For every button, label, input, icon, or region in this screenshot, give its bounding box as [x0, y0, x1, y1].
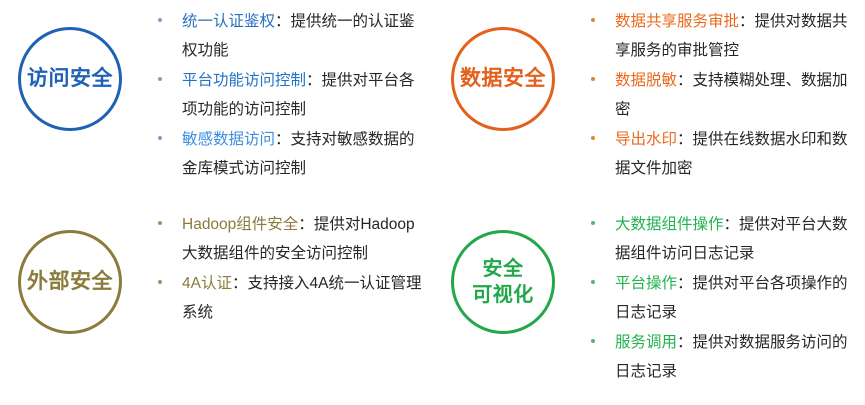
list-item: 统一认证鉴权：提供统一的认证鉴权功能 [150, 7, 426, 65]
list-item-text: 数据脱敏：支持模糊处理、数据加密 [615, 66, 859, 124]
list-item: Hadoop组件安全：提供对Hadoop大数据组件的安全访问控制 [150, 210, 426, 268]
list-item: 导出水印：提供在线数据水印和数据文件加密 [583, 125, 859, 183]
list-item-separator: ： [306, 72, 322, 89]
list-item-separator: ： [677, 72, 693, 89]
bullet-icon [158, 136, 162, 140]
badge-security-visualization: 安全 可视化 [433, 203, 583, 405]
list-item-text: 统一认证鉴权：提供统一的认证鉴权功能 [182, 7, 426, 65]
badge-label-line: 访问安全 [27, 65, 113, 93]
list-item-term: 大数据组件操作 [615, 216, 724, 233]
list-item-term: 平台功能访问控制 [182, 72, 306, 89]
section-data-security: 数据安全 数据共享服务审批：提供对数据共享服务的审批管控 数据脱敏：支持模糊处理… [433, 0, 865, 202]
list-item-text: 平台操作：提供对平台各项操作的日志记录 [615, 269, 859, 327]
list-item-term: 平台操作 [615, 275, 677, 292]
list-item-text: 导出水印：提供在线数据水印和数据文件加密 [615, 125, 859, 183]
list-item-text: 大数据组件操作：提供对平台大数据组件访问日志记录 [615, 210, 859, 268]
list-data-security: 数据共享服务审批：提供对数据共享服务的审批管控 数据脱敏：支持模糊处理、数据加密… [583, 0, 865, 184]
list-item: 平台功能访问控制：提供对平台各项功能的访问控制 [150, 66, 426, 124]
bullet-icon [158, 280, 162, 284]
list-item-separator: ： [677, 334, 693, 351]
badge-label-data-security: 数据安全 [433, 27, 573, 131]
list-item-term: 数据共享服务审批 [615, 13, 739, 30]
section-access-security: 访问安全 统一认证鉴权：提供统一的认证鉴权功能 平台功能访问控制：提供对平台各项… [0, 0, 432, 202]
badge-label-line: 可视化 [472, 282, 534, 308]
badge-access-security: 访问安全 [0, 0, 150, 202]
list-item-term: 数据脱敏 [615, 72, 677, 89]
list-access-security: 统一认证鉴权：提供统一的认证鉴权功能 平台功能访问控制：提供对平台各项功能的访问… [150, 0, 432, 184]
bullet-icon [591, 221, 595, 225]
list-item: 服务调用：提供对数据服务访问的日志记录 [583, 328, 859, 386]
badge-label-external-security: 外部安全 [0, 230, 140, 334]
list-item-text: 4A认证：支持接入4A统一认证管理系统 [182, 269, 426, 327]
list-item-separator: ： [739, 13, 755, 30]
list-item-text: Hadoop组件安全：提供对Hadoop大数据组件的安全访问控制 [182, 210, 426, 268]
badge-label-line: 安全 [483, 256, 524, 282]
list-item-separator: ： [298, 216, 314, 233]
list-item-separator: ： [724, 216, 740, 233]
list-item-text: 平台功能访问控制：提供对平台各项功能的访问控制 [182, 66, 426, 124]
list-item-separator: ： [232, 275, 248, 292]
badge-label-line: 数据安全 [460, 65, 546, 93]
bullet-icon [158, 221, 162, 225]
list-item-text: 敏感数据访问：支持对敏感数据的金库模式访问控制 [182, 125, 426, 183]
list-item: 数据脱敏：支持模糊处理、数据加密 [583, 66, 859, 124]
list-external-security: Hadoop组件安全：提供对Hadoop大数据组件的安全访问控制 4A认证：支持… [150, 203, 432, 328]
security-capability-diagram: 访问安全 统一认证鉴权：提供统一的认证鉴权功能 平台功能访问控制：提供对平台各项… [0, 0, 865, 405]
bullet-icon [591, 136, 595, 140]
bullet-icon [591, 339, 595, 343]
list-item-separator: ： [275, 13, 291, 30]
list-item: 大数据组件操作：提供对平台大数据组件访问日志记录 [583, 210, 859, 268]
list-item-term: 统一认证鉴权 [182, 13, 275, 30]
badge-data-security: 数据安全 [433, 0, 583, 202]
list-item-term: 服务调用 [615, 334, 677, 351]
list-item-text: 数据共享服务审批：提供对数据共享服务的审批管控 [615, 7, 859, 65]
bullet-icon [591, 77, 595, 81]
list-item-separator: ： [677, 275, 693, 292]
bullet-icon [158, 18, 162, 22]
bullet-icon [591, 18, 595, 22]
list-item: 平台操作：提供对平台各项操作的日志记录 [583, 269, 859, 327]
list-item-term: 4A认证 [182, 275, 232, 292]
list-item-separator: ： [677, 131, 693, 148]
list-item: 敏感数据访问：支持对敏感数据的金库模式访问控制 [150, 125, 426, 183]
list-item-text: 服务调用：提供对数据服务访问的日志记录 [615, 328, 859, 386]
list-security-visualization: 大数据组件操作：提供对平台大数据组件访问日志记录 平台操作：提供对平台各项操作的… [583, 203, 865, 387]
list-item-term: Hadoop组件安全 [182, 216, 298, 233]
list-item-term: 导出水印 [615, 131, 677, 148]
badge-label-access-security: 访问安全 [0, 27, 140, 131]
badge-external-security: 外部安全 [0, 203, 150, 405]
section-security-visualization: 安全 可视化 大数据组件操作：提供对平台大数据组件访问日志记录 平台操作：提供对… [433, 203, 865, 405]
list-item-separator: ： [275, 131, 291, 148]
list-item: 4A认证：支持接入4A统一认证管理系统 [150, 269, 426, 327]
section-external-security: 外部安全 Hadoop组件安全：提供对Hadoop大数据组件的安全访问控制 4A… [0, 203, 432, 405]
bullet-icon [158, 77, 162, 81]
list-item: 数据共享服务审批：提供对数据共享服务的审批管控 [583, 7, 859, 65]
bullet-icon [591, 280, 595, 284]
badge-label-line: 外部安全 [27, 268, 113, 296]
list-item-term: 敏感数据访问 [182, 131, 275, 148]
badge-label-security-visualization: 安全 可视化 [433, 230, 573, 334]
